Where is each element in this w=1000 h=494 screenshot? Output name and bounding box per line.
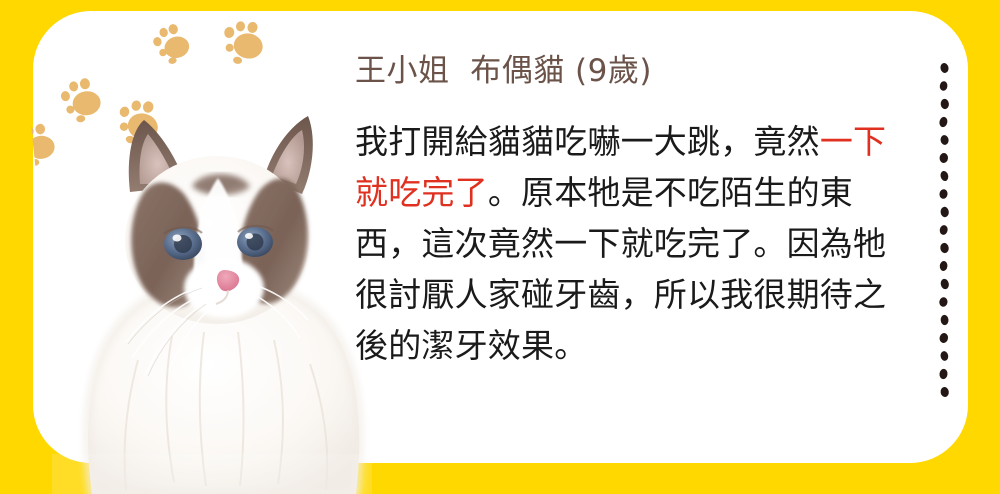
testimonial-quote: 我打開給貓貓吃嚇一大跳，竟然一下就吃完了。原本牠是不吃陌生的東西，這次竟然一下就…: [355, 116, 915, 371]
person-heading: 王小姐 布偶貓 (9歲): [355, 54, 915, 90]
testimonial-card: 王小姐 布偶貓 (9歲) 我打開給貓貓吃嚇一大跳，竟然一下就吃完了。原本牠是不吃…: [0, 0, 1000, 494]
paw-print-icon: [10, 118, 63, 171]
dotted-divider: [936, 62, 952, 402]
testimonial-text-block: 王小姐 布偶貓 (9歲) 我打開給貓貓吃嚇一大跳，竟然一下就吃完了。原本牠是不吃…: [355, 54, 915, 371]
quote-text-lead: 我打開給貓貓吃嚇一大跳，竟然: [355, 122, 820, 161]
paw-print-icon: [53, 71, 109, 127]
paw-print-icon: [214, 12, 272, 70]
